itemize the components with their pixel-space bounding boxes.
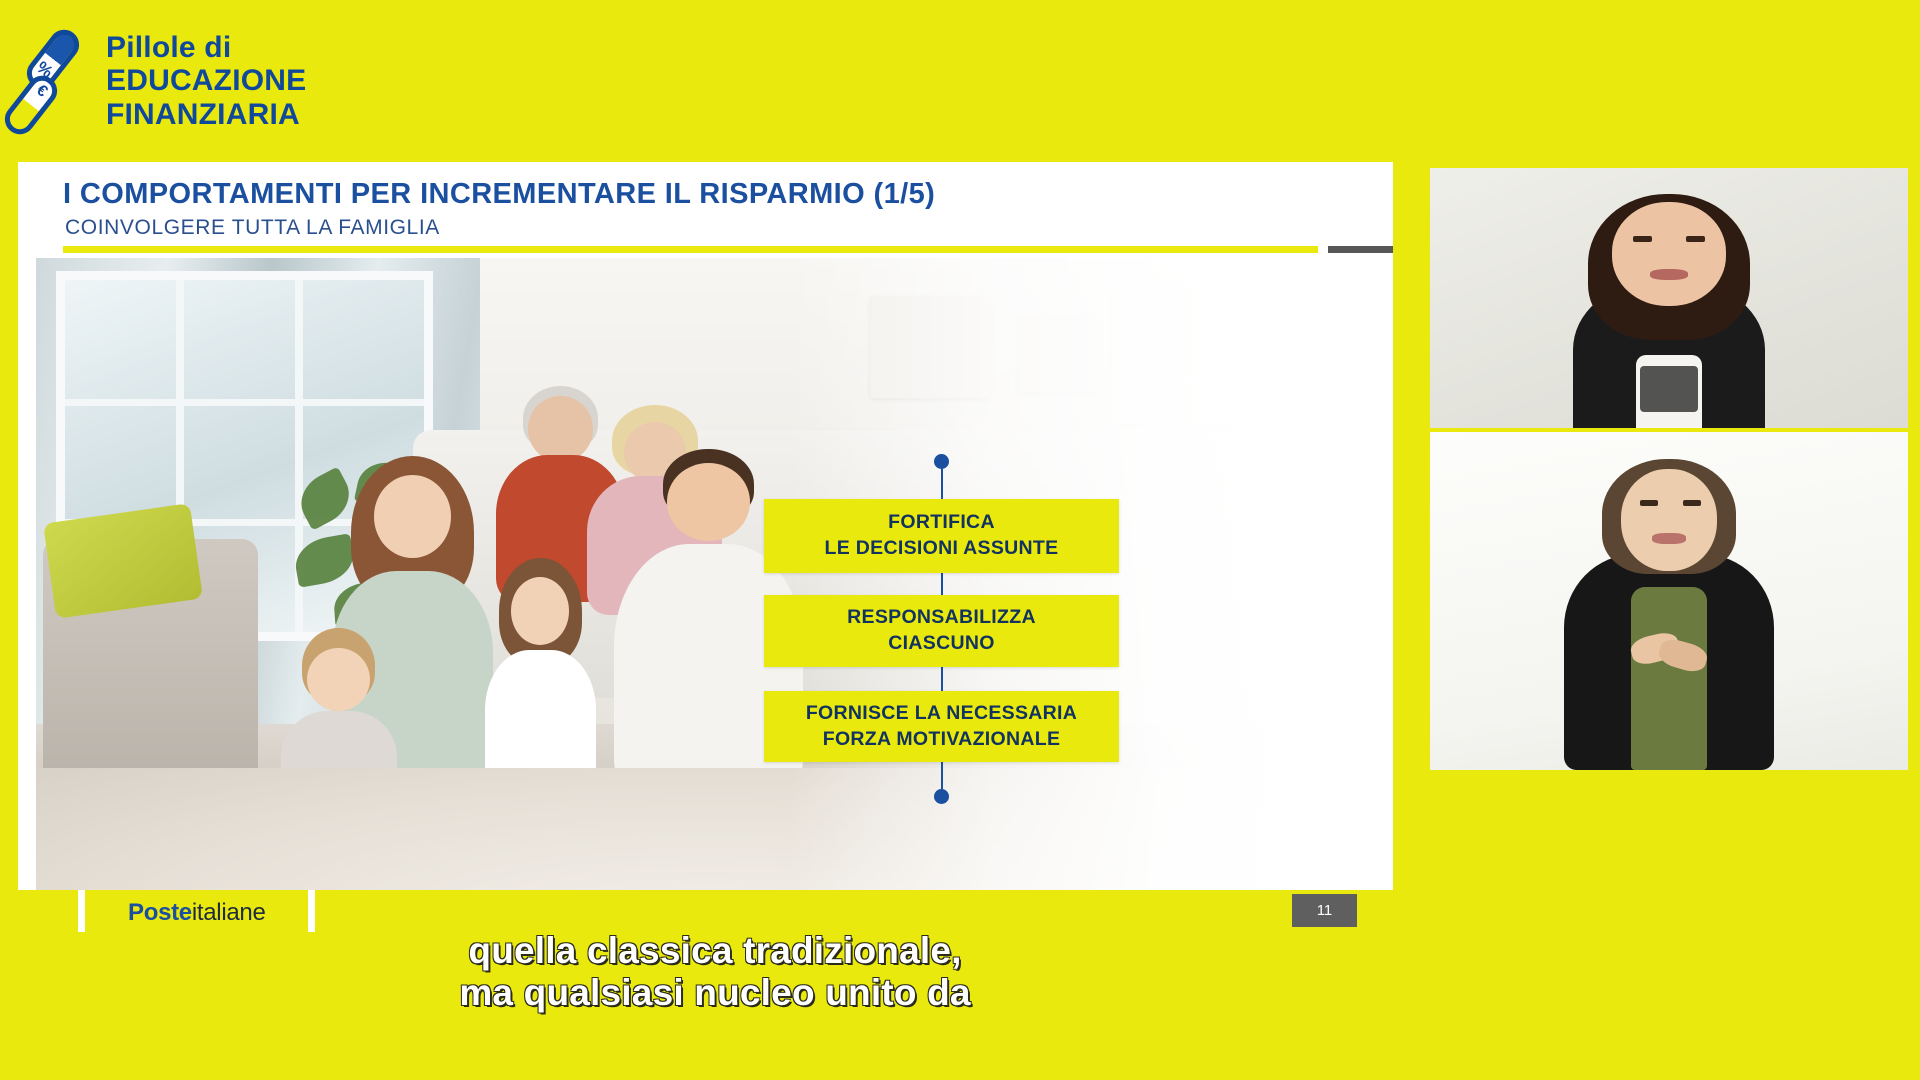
slide-title: I COMPORTAMENTI PER INCREMENTARE IL RISP… bbox=[63, 178, 935, 211]
poste-logo-bold: Poste bbox=[128, 899, 192, 926]
callout-box-2-line-2: CIASCUNO bbox=[888, 632, 994, 654]
poste-logo-light: italiane bbox=[192, 899, 266, 926]
connector-dot-bottom bbox=[934, 789, 949, 804]
brand-header: % € Pillole di EDUCAZIONE FINANZIARIA bbox=[0, 0, 1440, 162]
callout-box-2-line-1: RESPONSABILIZZA bbox=[847, 606, 1036, 628]
slide-subtitle: COINVOLGERE TUTTA LA FAMIGLIA bbox=[65, 216, 440, 240]
caption-line-2: ma qualsiasi nucleo unito da bbox=[0, 972, 1430, 1014]
callout-box-responsabilizza: RESPONSABILIZZA CIASCUNO bbox=[764, 595, 1119, 667]
callout-box-1-line-1: FORTIFICA bbox=[888, 511, 995, 533]
callout-box-fortifica: FORTIFICA LE DECISIONI ASSUNTE bbox=[764, 499, 1119, 573]
callout-box-forza-motivazionale: FORNISCE LA NECESSARIA FORZA MOTIVAZIONA… bbox=[764, 691, 1119, 762]
title-underline-accent bbox=[1328, 246, 1393, 253]
callout-box-1-line-2: LE DECISIONI ASSUNTE bbox=[825, 537, 1059, 559]
brand-line-1: Pillole di bbox=[106, 31, 306, 65]
euro-symbol: € bbox=[32, 82, 50, 102]
caption-line-1: quella classica tradizionale, bbox=[0, 930, 1430, 972]
video-speaker-frame bbox=[1430, 168, 1908, 428]
brand-line-2: EDUCAZIONE bbox=[106, 64, 306, 98]
callout-box-3-line-2: FORZA MOTIVAZIONALE bbox=[823, 728, 1061, 750]
slide-photo bbox=[36, 258, 1381, 896]
footer-divider-left bbox=[78, 890, 85, 932]
pillole-logo: % € bbox=[14, 26, 92, 144]
photo-scene bbox=[36, 258, 1381, 896]
video-signer-frame bbox=[1430, 432, 1908, 770]
slide-footer: Posteitaliane 11 bbox=[18, 890, 1393, 932]
brand-title-block: Pillole di EDUCAZIONE FINANZIARIA bbox=[106, 31, 306, 132]
pill-yellow-icon: € bbox=[0, 70, 63, 140]
title-underline bbox=[63, 246, 1318, 253]
video-speaker[interactable] bbox=[1430, 168, 1908, 428]
video-sign-language-interpreter[interactable] bbox=[1430, 432, 1908, 770]
slide-page-number: 11 bbox=[1292, 894, 1357, 927]
presentation-slide: I COMPORTAMENTI PER INCREMENTARE IL RISP… bbox=[18, 162, 1393, 932]
brand-line-3: FINANZIARIA bbox=[106, 98, 306, 132]
footer-divider-right bbox=[308, 890, 315, 932]
callout-box-3-line-1: FORNISCE LA NECESSARIA bbox=[806, 702, 1077, 724]
subtitle-caption: quella classica tradizionale, ma qualsia… bbox=[0, 930, 1430, 1014]
poste-italiane-logo: Posteitaliane bbox=[128, 899, 266, 927]
